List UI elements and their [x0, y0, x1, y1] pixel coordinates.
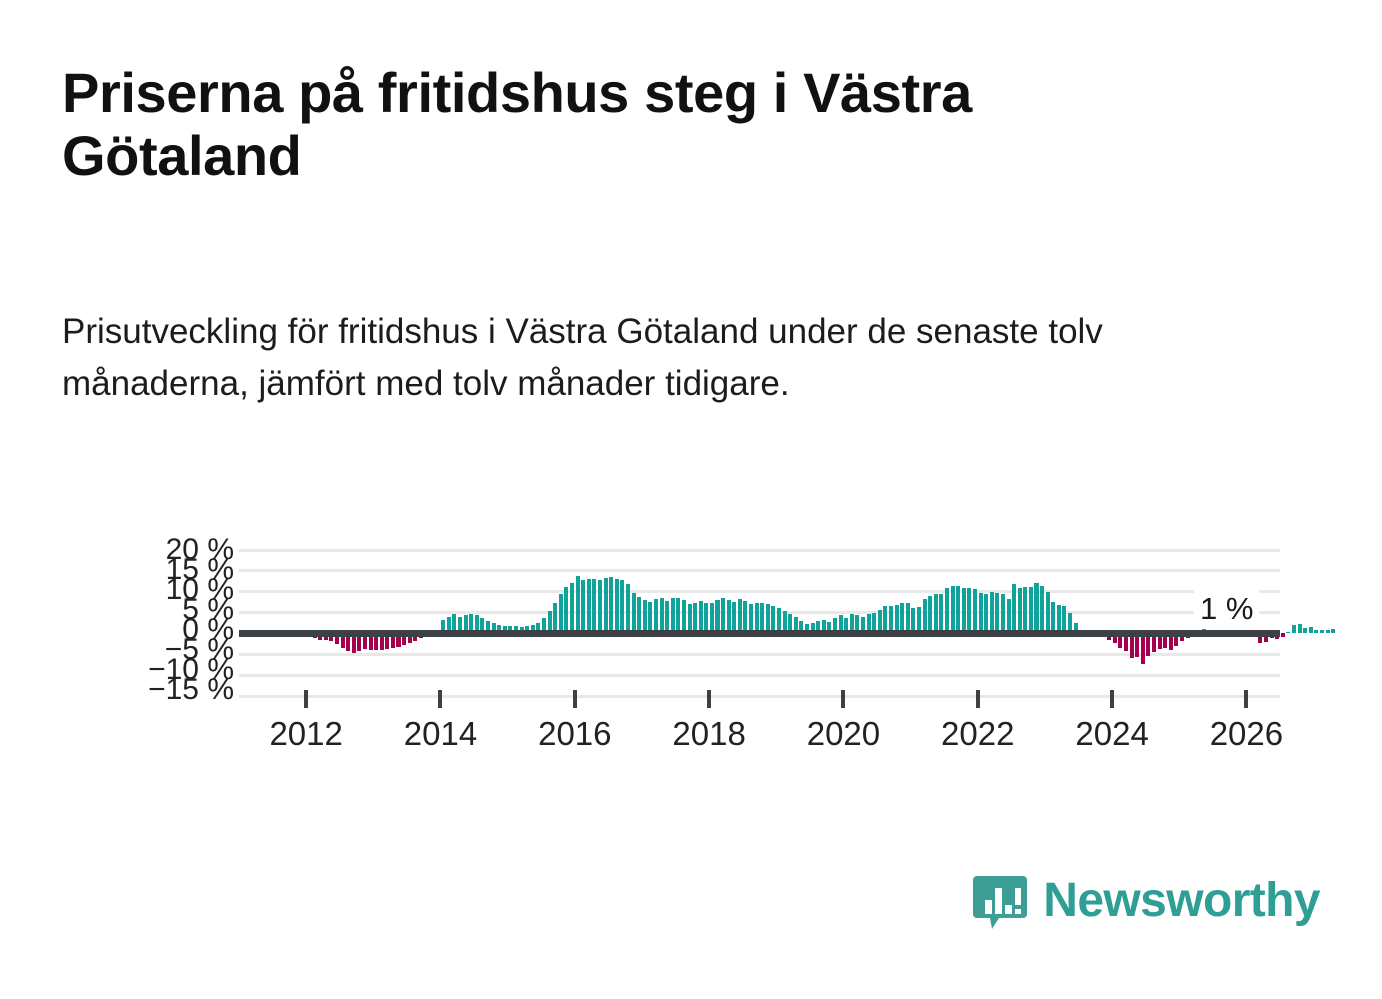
- bar: [1023, 587, 1027, 634]
- x-axis-tick-label: 2014: [404, 714, 477, 754]
- bar: [643, 600, 647, 633]
- bar: [1001, 594, 1005, 633]
- chart-container: 20 %15 %10 %5 %0 %−5 %−10 %−15 % 2012201…: [0, 540, 1382, 780]
- bar: [637, 597, 641, 634]
- bar: [923, 599, 927, 633]
- y-axis-tick-label: −15 %: [104, 675, 234, 705]
- bar: [979, 593, 983, 633]
- bar: [1303, 628, 1307, 633]
- bar: [1007, 599, 1011, 633]
- bar: [592, 579, 596, 634]
- bar: [620, 580, 624, 633]
- bar: [559, 594, 563, 634]
- bar: [973, 589, 977, 633]
- logo-wordmark: Newsworthy: [1043, 877, 1320, 925]
- bar: [693, 603, 697, 633]
- bar: [934, 594, 938, 633]
- bar: [665, 601, 669, 634]
- bar: [615, 579, 619, 633]
- x-axis-tick-label: 2012: [269, 714, 342, 754]
- bar: [632, 593, 636, 633]
- infographic-page: Priserna på fritidshus steg i Västra Göt…: [0, 0, 1382, 999]
- bar: [1326, 630, 1330, 633]
- bar: [1018, 588, 1022, 634]
- bar: [660, 598, 664, 633]
- bar: [1281, 633, 1285, 637]
- bar: [1051, 602, 1055, 634]
- zero-baseline: [239, 630, 1280, 637]
- bar: [715, 600, 719, 633]
- bar: [1309, 627, 1313, 634]
- bar: [967, 588, 971, 634]
- chart-plot-area: [239, 550, 1280, 696]
- bar-chart-speech-bubble-icon: [971, 872, 1029, 930]
- y-axis-labels: 20 %15 %10 %5 %0 %−5 %−10 %−15 %: [104, 542, 234, 712]
- bar: [553, 603, 557, 634]
- bar: [721, 598, 725, 634]
- bar: [760, 603, 764, 634]
- bar: [1135, 633, 1139, 656]
- bar: [928, 596, 932, 634]
- bar-series: [239, 550, 1280, 696]
- bar: [671, 598, 675, 633]
- bar: [984, 594, 988, 633]
- bar: [1012, 584, 1016, 633]
- bar: [564, 587, 568, 633]
- bar: [906, 603, 910, 633]
- x-axis-tick-label: 2022: [941, 714, 1014, 754]
- bar: [956, 586, 960, 633]
- bar: [654, 599, 658, 633]
- x-axis-tick-label: 2018: [672, 714, 745, 754]
- bar: [738, 599, 742, 634]
- bar: [587, 579, 591, 633]
- bar: [648, 602, 652, 634]
- bar: [1320, 630, 1324, 634]
- bar: [710, 603, 714, 633]
- bar: [1130, 633, 1134, 657]
- page-subtitle: Prisutveckling för fritidshus i Västra G…: [62, 306, 1257, 410]
- bar: [699, 601, 703, 634]
- bar: [1292, 625, 1296, 633]
- x-axis-tick-label: 2020: [807, 714, 880, 754]
- bar: [727, 600, 731, 633]
- bar: [598, 580, 602, 634]
- bar: [945, 588, 949, 633]
- last-value-annotation: 1 %: [1194, 590, 1259, 628]
- bar: [682, 600, 686, 633]
- bar: [1040, 586, 1044, 634]
- bar: [581, 580, 585, 634]
- bar: [1331, 629, 1335, 633]
- bar: [576, 576, 580, 634]
- bar: [570, 583, 574, 634]
- bar: [900, 603, 904, 634]
- x-axis-tick-label: 2024: [1075, 714, 1148, 754]
- bar: [1029, 587, 1033, 633]
- page-title: Priserna på fritidshus steg i Västra Göt…: [62, 62, 1182, 187]
- bar: [1046, 592, 1050, 634]
- bar: [1286, 632, 1290, 634]
- bar: [995, 593, 999, 634]
- bar: [939, 594, 943, 633]
- bar: [951, 586, 955, 634]
- bar: [704, 603, 708, 634]
- x-axis: 20122014201620182020202220242026: [239, 690, 1280, 780]
- bar: [743, 601, 747, 634]
- bar: [755, 603, 759, 633]
- bar: [962, 588, 966, 633]
- bar: [626, 584, 630, 633]
- newsworthy-logo: Newsworthy: [971, 872, 1320, 930]
- bar: [609, 577, 613, 634]
- bar: [990, 592, 994, 634]
- bar: [1141, 633, 1145, 664]
- bar: [676, 598, 680, 633]
- x-axis-tick-label: 2016: [538, 714, 611, 754]
- bar: [604, 578, 608, 634]
- x-axis-tick-label: 2026: [1210, 714, 1283, 754]
- bar: [1314, 630, 1318, 633]
- bar: [732, 602, 736, 633]
- bar: [1298, 624, 1302, 633]
- bar: [1034, 583, 1038, 634]
